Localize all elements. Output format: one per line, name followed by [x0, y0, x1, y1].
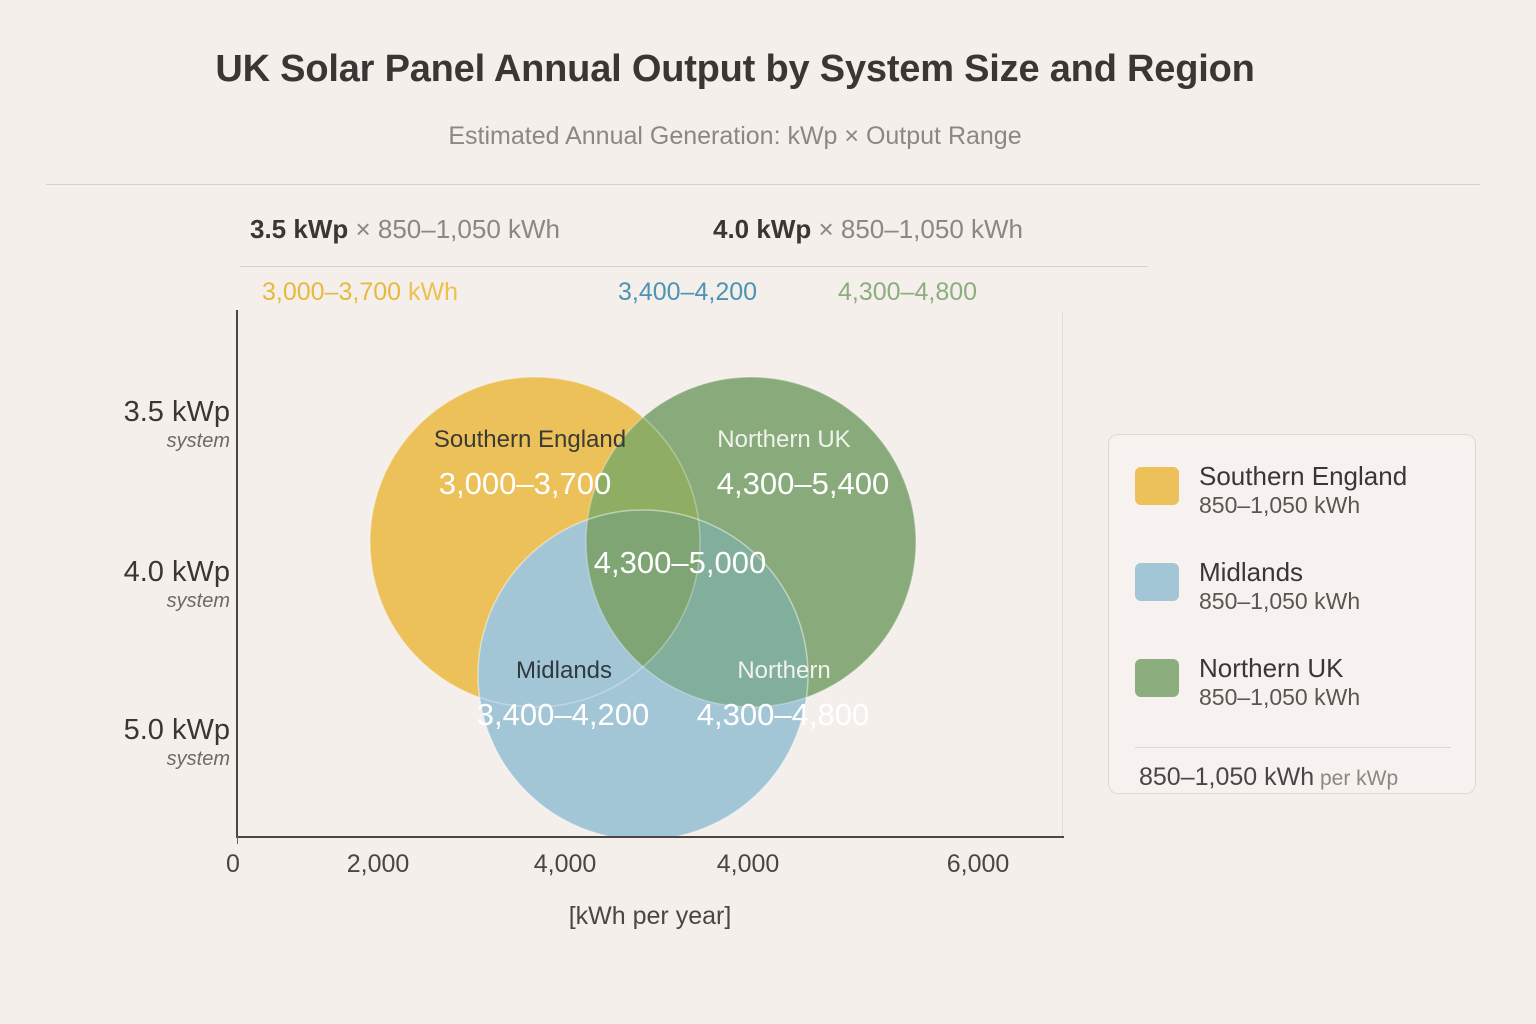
- y-axis-label-0-value: 3.5 kWp: [124, 396, 230, 429]
- legend-label-southern-england: Southern England: [1199, 461, 1407, 491]
- x-axis-tick-label-0: 0: [226, 850, 240, 879]
- legend-footer-main: 850–1,050 kWh: [1139, 763, 1314, 791]
- column-header-divider: [240, 266, 1148, 267]
- legend-sub-northern-uk: 850–1,050 kWh: [1199, 684, 1360, 710]
- legend-text-northern-uk: Northern UK 850–1,050 kWh: [1199, 653, 1455, 711]
- x-axis-tick-0: [237, 836, 238, 844]
- column-header-1-range: × 850–1,050 kWh: [348, 214, 560, 244]
- y-axis-label-0-sub: system: [124, 430, 230, 453]
- venn-label-southern-value: 3,000–3,700: [439, 466, 611, 501]
- y-axis-label-2-value: 5.0 kWp: [124, 714, 230, 747]
- legend-footer: 850–1,050 kWh per kWp: [1139, 763, 1398, 792]
- y-axis-label-1-sub: system: [124, 590, 230, 613]
- column-header-2: 4.0 kWp × 850–1,050 kWh: [713, 214, 1023, 245]
- x-axis-tick-label-1: 2,000: [347, 850, 410, 879]
- x-axis-tick-label-2: 4,000: [534, 850, 597, 879]
- legend-label-northern-uk: Northern UK: [1199, 653, 1344, 683]
- page-title: UK Solar Panel Annual Output by System S…: [0, 48, 1470, 91]
- column-header-1-kwp: 3.5 kWp: [250, 214, 348, 244]
- column-header-2-kwp: 4.0 kWp: [713, 214, 811, 244]
- x-axis-title: [kWh per year]: [236, 902, 1064, 931]
- legend-swatch-northern-uk: [1135, 659, 1179, 697]
- venn-label-northern-value: 4,300–5,400: [717, 466, 889, 501]
- y-axis-label-2-sub: system: [124, 748, 230, 771]
- y-axis-label-1: 4.0 kWp system: [124, 556, 230, 613]
- column-header-2-range: × 850–1,050 kWh: [811, 214, 1023, 244]
- venn-label-southern-title: Southern England: [434, 426, 626, 453]
- venn-label-midlands-title: Midlands: [516, 657, 612, 684]
- y-axis-label-1-value: 4.0 kWp: [124, 556, 230, 589]
- legend-swatch-southern-england: [1135, 467, 1179, 505]
- venn-label-lowerright-title: Northern: [737, 657, 830, 684]
- band-value-southern-unit: kWh: [401, 278, 458, 306]
- x-axis-tick-label-4: 6,000: [947, 850, 1010, 879]
- legend-text-midlands: Midlands 850–1,050 kWh: [1199, 557, 1455, 615]
- legend-swatch-midlands: [1135, 563, 1179, 601]
- venn-label-midlands-value: 3,400–4,200: [477, 697, 649, 732]
- x-axis-line: [236, 836, 1064, 838]
- legend: Southern England 850–1,050 kWh Midlands …: [1108, 434, 1476, 794]
- chart-canvas: UK Solar Panel Annual Output by System S…: [0, 0, 1536, 1024]
- column-header-1: 3.5 kWp × 850–1,050 kWh: [250, 214, 560, 245]
- legend-text-southern-england: Southern England 850–1,050 kWh: [1199, 461, 1455, 519]
- band-value-southern: 3,000–3,700 kWh: [262, 278, 458, 307]
- venn-label-center-value: 4,300–5,000: [594, 545, 766, 580]
- legend-sub-southern-england: 850–1,050 kWh: [1199, 492, 1360, 518]
- legend-divider: [1135, 747, 1451, 748]
- venn-label-northern-title: Northern UK: [717, 426, 850, 453]
- plot-right-border: [1062, 312, 1063, 836]
- legend-footer-small: per kWp: [1314, 767, 1398, 790]
- venn-diagram: Southern England 3,000–3,700 Northern UK…: [238, 312, 1062, 836]
- band-value-southern-text: 3,000–3,700: [262, 278, 401, 306]
- venn-label-lowerright-value: 4,300–4,800: [697, 697, 869, 732]
- header-divider: [46, 184, 1480, 185]
- page-subtitle: Estimated Annual Generation: kWp × Outpu…: [0, 122, 1470, 151]
- band-value-midlands: 3,400–4,200: [618, 278, 757, 307]
- y-axis-label-2: 5.0 kWp system: [124, 714, 230, 771]
- legend-sub-midlands: 850–1,050 kWh: [1199, 588, 1360, 614]
- legend-label-midlands: Midlands: [1199, 557, 1303, 587]
- x-axis-tick-label-3: 4,000: [717, 850, 780, 879]
- venn-svg: Southern England 3,000–3,700 Northern UK…: [238, 312, 1062, 836]
- y-axis-label-0: 3.5 kWp system: [124, 396, 230, 453]
- band-value-northern: 4,300–4,800: [838, 278, 977, 307]
